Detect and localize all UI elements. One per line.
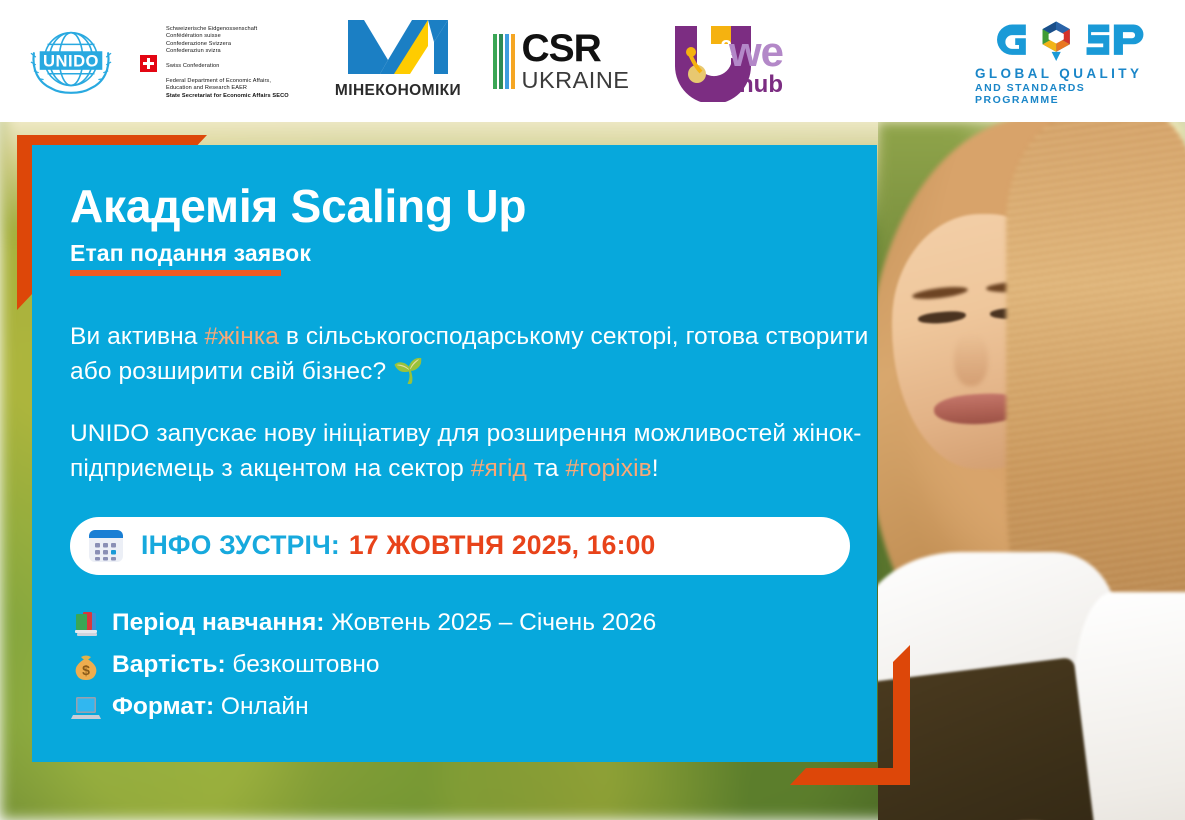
fact-study-period-value: Жовтень 2025 – Січень 2026: [324, 609, 656, 636]
swiss-line-fr: Confédération suisse: [166, 33, 289, 41]
subtitle-block: Етап подання заявок: [70, 240, 311, 276]
uwe-hub-logo: & we hub: [655, 22, 805, 102]
calendar-icon: [87, 527, 125, 565]
fact-cost: $ Вартість: безкоштовно: [70, 645, 877, 687]
fact-format-value: Онлайн: [214, 693, 309, 720]
csr-sub-label: UKRAINE: [522, 69, 630, 93]
paragraph-initiative: UNIDO запускає нову ініціативу для розши…: [70, 417, 870, 487]
swiss-seco-line: State Secretariat for Economic Affairs S…: [166, 93, 289, 101]
svg-text:we: we: [728, 28, 783, 75]
swiss-confederation-logo: Schweizerische Eidgenossenschaft Confédé…: [140, 18, 312, 108]
swiss-dept-line1: Federal Department of Economic Affairs,: [166, 78, 289, 86]
csr-main-label: CSR: [522, 29, 630, 68]
paragraph2-post: !: [652, 455, 659, 482]
gqsp-mark-icon: [975, 20, 1170, 64]
paragraph2-mid: та: [527, 455, 566, 482]
hashtag-zhinka: #жінка: [204, 323, 278, 350]
page-title: Академія Scaling Up: [70, 182, 877, 231]
gqsp-line2: AND STANDARDS PROGRAMME: [975, 82, 1170, 106]
facts-list: Період навчання: Жовтень 2025 – Січень 2…: [70, 603, 877, 729]
page-subtitle: Етап подання заявок: [70, 240, 311, 267]
svg-text:UNIDO: UNIDO: [43, 51, 99, 70]
fact-format-label: Формат:: [112, 693, 214, 720]
woman-photo: [878, 122, 1185, 820]
minekonomiky-label: МІНЕКОНОМІКИ: [335, 82, 461, 100]
info-meeting-label: ІНФО ЗУСТРІЧ:: [141, 530, 340, 561]
logo-header-band: UNIDO Schweizerische Eidgenossenschaft C…: [0, 0, 1185, 122]
books-icon: [70, 608, 102, 640]
fact-cost-label: Вартість:: [112, 651, 226, 678]
gqsp-line1: GLOBAL QUALITY: [975, 66, 1142, 81]
paragraph2-pre: UNIDO запускає нову ініціативу для розши…: [70, 420, 862, 482]
laptop-icon: [70, 692, 102, 724]
main-content-panel: Академія Scaling Up Етап подання заявок …: [32, 145, 877, 762]
fact-study-period-label: Період навчання:: [112, 609, 324, 636]
swiss-dept-line2: Education and Research EAER: [166, 85, 289, 93]
swiss-flag-icon: [140, 55, 157, 72]
info-meeting-banner: ІНФО ЗУСТРІЧ: 17 ЖОВТНЯ 2025, 16:00: [70, 517, 850, 575]
hashtag-gorihiv: #горіхів: [566, 455, 652, 482]
svg-text:$: $: [82, 662, 90, 678]
paragraph-intro: Ви активна #жінка в сільськогосподарсько…: [70, 320, 870, 390]
gqsp-logo: GLOBAL QUALITY AND STANDARDS PROGRAMME: [975, 20, 1170, 106]
minekonomiky-mark-icon: [342, 16, 454, 78]
swiss-line-en: Swiss Confederation: [166, 63, 289, 71]
paragraph1-pre: Ви активна: [70, 323, 204, 350]
swiss-line-rm: Confederaziun svizra: [166, 48, 289, 56]
csr-ukraine-logo: CSR UKRAINE: [493, 26, 628, 96]
svg-text:hub: hub: [739, 71, 783, 98]
fact-study-period: Період навчання: Жовтень 2025 – Січень 2…: [70, 603, 877, 645]
minekonomiky-logo: МІНЕКОНОМІКИ: [318, 16, 478, 111]
unido-logo: UNIDO: [22, 18, 120, 106]
fact-cost-value: безкоштовно: [226, 651, 380, 678]
csr-bars-icon: [493, 34, 515, 89]
swiss-line-de: Schweizerische Eidgenossenschaft: [166, 26, 289, 34]
hashtag-yagid: #ягід: [471, 455, 527, 482]
swiss-line-it: Confederazione Svizzera: [166, 41, 289, 49]
info-meeting-date: 17 ЖОВТНЯ 2025, 16:00: [349, 530, 656, 561]
money-bag-icon: $: [70, 650, 102, 682]
subtitle-underline: [70, 270, 281, 276]
fact-format: Формат: Онлайн: [70, 687, 877, 729]
